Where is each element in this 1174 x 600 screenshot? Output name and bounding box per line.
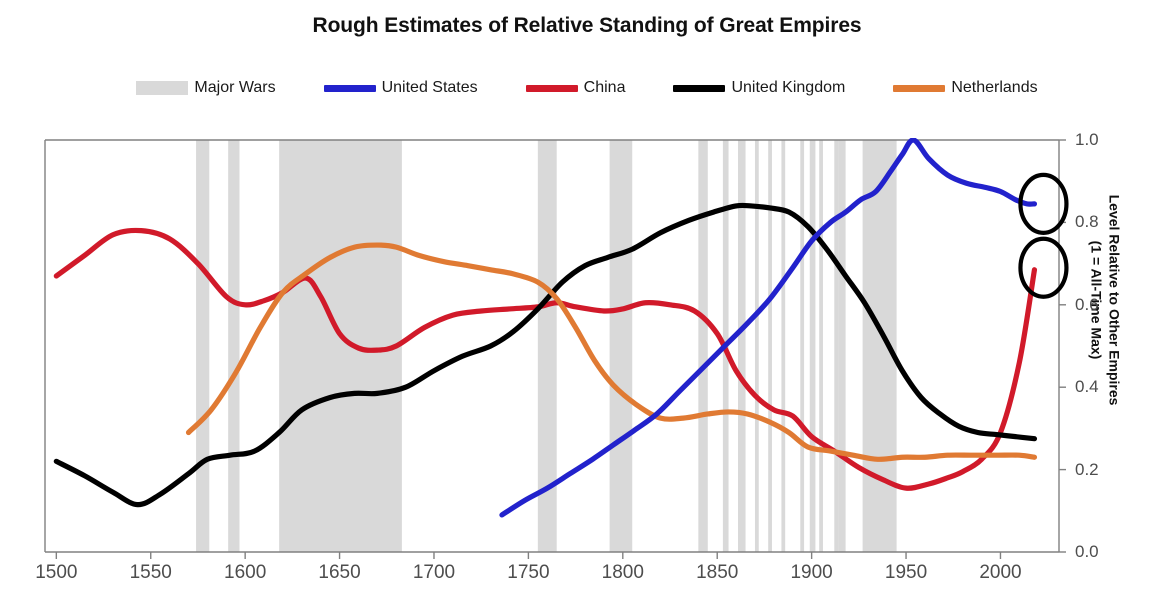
war-band (819, 140, 823, 552)
series-line-united-states (502, 140, 1034, 515)
war-band (196, 140, 209, 552)
war-band (800, 140, 804, 552)
x-tick-label: 1500 (35, 562, 77, 584)
war-band (768, 140, 772, 552)
chart-canvas (0, 0, 1174, 600)
war-band (698, 140, 707, 552)
x-tick-label: 1850 (696, 562, 738, 584)
y-tick-label: 0.2 (1075, 460, 1099, 480)
x-tick-label: 1600 (224, 562, 266, 584)
x-tick-label: 1650 (318, 562, 360, 584)
chart-page: Rough Estimates of Relative Standing of … (0, 0, 1174, 600)
y-axis-label-line1: Level Relative to Other Empires (1107, 195, 1123, 406)
x-tick-label: 1700 (413, 562, 455, 584)
x-tick-label: 1950 (885, 562, 927, 584)
war-band (610, 140, 633, 552)
war-band (781, 140, 785, 552)
war-band (738, 140, 746, 552)
plot-area: Level Relative to Other Empires (1 = All… (0, 0, 1174, 600)
x-tick-label: 1750 (507, 562, 549, 584)
y-tick-label: 1.0 (1075, 130, 1099, 150)
y-tick-label: 0.4 (1075, 377, 1099, 397)
y-tick-label: 0.6 (1075, 295, 1099, 315)
x-tick-label: 1900 (790, 562, 832, 584)
war-band (810, 140, 816, 552)
y-tick-label: 0.0 (1075, 542, 1099, 562)
war-band (838, 140, 846, 552)
y-tick-label: 0.8 (1075, 212, 1099, 232)
war-band (755, 140, 759, 552)
war-band (279, 140, 402, 552)
war-band (834, 140, 838, 552)
war-band (228, 140, 239, 552)
x-tick-label: 1800 (602, 562, 644, 584)
x-tick-label: 1550 (130, 562, 172, 584)
x-tick-label: 2000 (979, 562, 1021, 584)
